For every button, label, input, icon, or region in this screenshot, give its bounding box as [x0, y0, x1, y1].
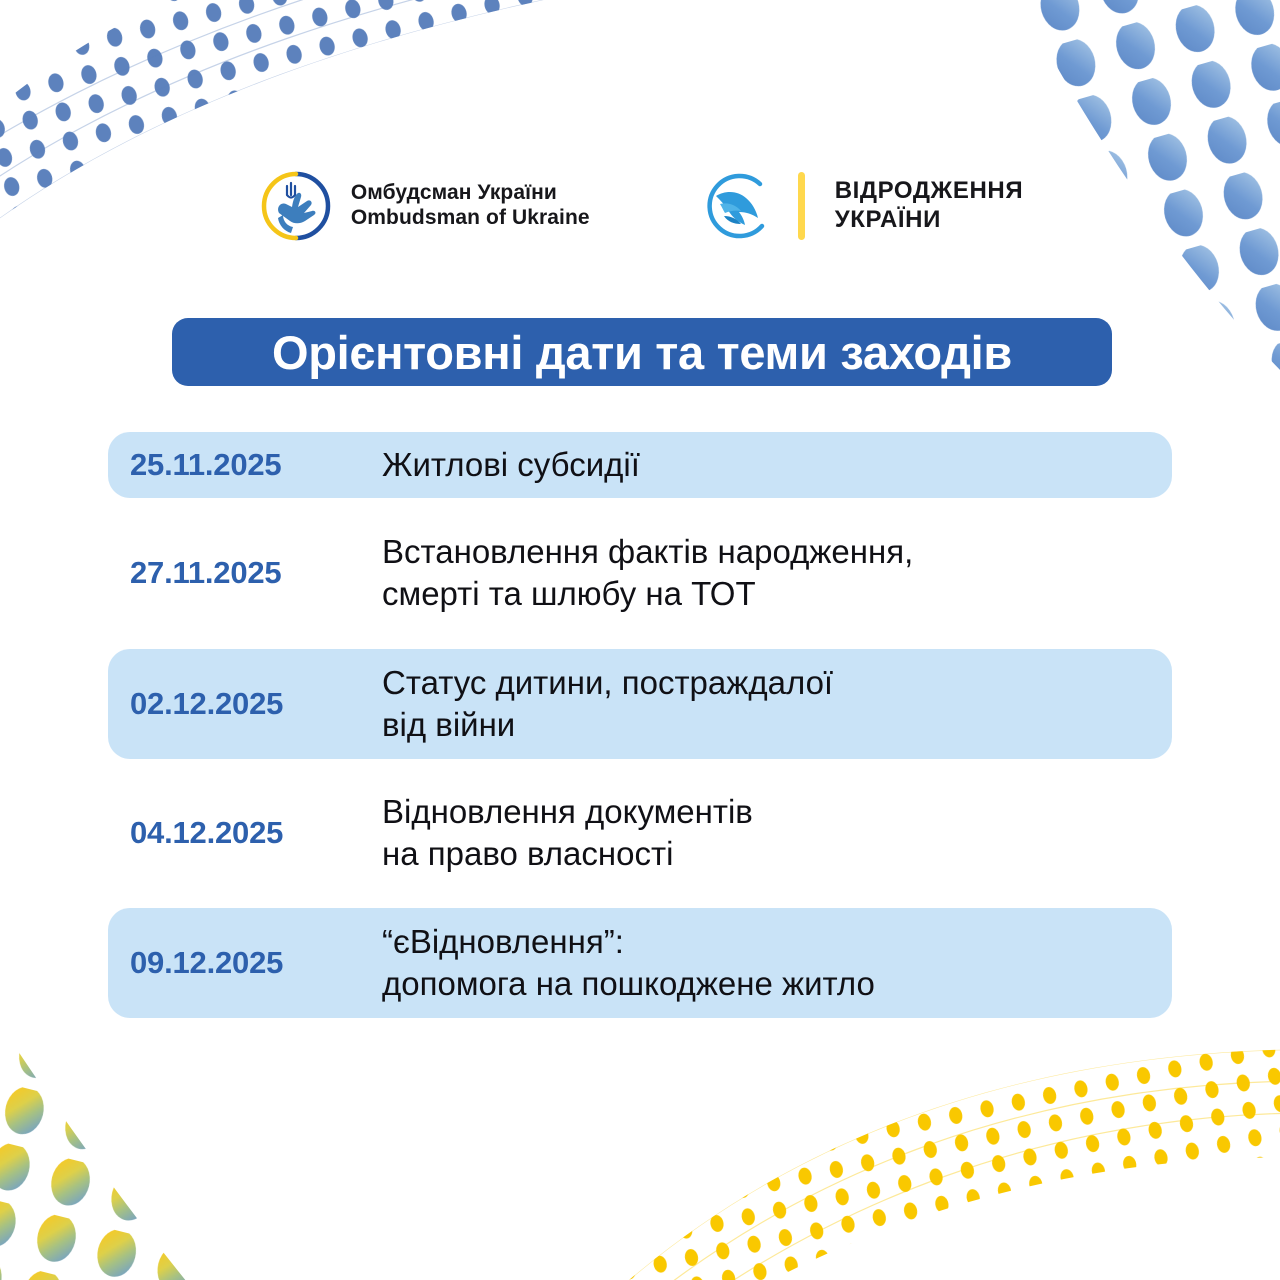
- schedule-row[interactable]: 25.11.2025 Житлові субсидії: [108, 432, 1172, 498]
- header-logos: Омбудсман України Ombudsman of Ukraine В…: [0, 163, 1280, 249]
- schedule-row-topic: “єВідновлення”: допомога на пошкоджене ж…: [382, 921, 1172, 1005]
- schedule-row-topic: Житлові субсидії: [382, 444, 1172, 486]
- poster-canvas: Омбудсман України Ombudsman of Ukraine В…: [0, 0, 1280, 1280]
- blue-dot-wave-top-left-icon: [0, 0, 960, 300]
- logo-revival-line-2: УКРАЇНИ: [835, 207, 1023, 234]
- schedule-row-date: 25.11.2025: [130, 447, 382, 483]
- schedule-row[interactable]: 27.11.2025 Встановлення фактів народженн…: [108, 519, 1172, 627]
- schedule-row-date: 04.12.2025: [130, 815, 382, 851]
- schedule-row[interactable]: 04.12.2025 Відновлення документів на пра…: [108, 779, 1172, 887]
- logo-ombudsman-line-uk: Омбудсман України: [351, 181, 590, 206]
- schedule-row-date: 02.12.2025: [130, 686, 382, 722]
- revival-bird-icon: [700, 168, 776, 244]
- logo-revival-line-1: ВІДРОДЖЕННЯ: [835, 178, 1023, 205]
- schedule-row-date: 27.11.2025: [130, 555, 382, 591]
- schedule-row-date: 09.12.2025: [130, 945, 382, 981]
- page-title: Орієнтовні дати та теми заходів: [272, 329, 1012, 376]
- schedule-list: 25.11.2025 Житлові субсидії 27.11.2025 В…: [108, 425, 1172, 1018]
- schedule-row-topic: Статус дитини, постраждалої від війни: [382, 662, 1172, 746]
- schedule-row-topic: Відновлення документів на право власност…: [382, 791, 1172, 875]
- logo-ombudsman-line-en: Ombudsman of Ukraine: [351, 206, 590, 231]
- schedule-row-topic-line: Статус дитини, постраждалої: [382, 662, 1172, 704]
- schedule-row-topic-line: “єВідновлення”:: [382, 921, 1172, 963]
- schedule-row[interactable]: 02.12.2025 Статус дитини, постраждалої в…: [108, 649, 1172, 759]
- schedule-row-topic-line: допомога на пошкоджене житло: [382, 963, 1172, 1005]
- schedule-row-topic-line: Житлові субсидії: [382, 444, 1172, 486]
- schedule-row-topic: Встановлення фактів народження, смерті т…: [382, 531, 1172, 615]
- logo-ombudsman: Омбудсман України Ombudsman of Ukraine: [257, 167, 590, 245]
- schedule-row-topic-line: на право власності: [382, 833, 1172, 875]
- schedule-row-topic-line: від війни: [382, 704, 1172, 746]
- logo-revival-of-ukraine: ВІДРОДЖЕННЯ УКРАЇНИ: [700, 168, 1023, 244]
- page-title-banner: Орієнтовні дати та теми заходів: [172, 318, 1112, 386]
- dove-hand-trident-icon: [257, 167, 335, 245]
- schedule-row-topic-line: смерті та шлюбу на ТОТ: [382, 573, 1172, 615]
- schedule-row-topic-line: Відновлення документів: [382, 791, 1172, 833]
- schedule-row-topic-line: Встановлення фактів народження,: [382, 531, 1172, 573]
- schedule-row[interactable]: 09.12.2025 “єВідновлення”: допомога на п…: [108, 908, 1172, 1018]
- logo-divider: [798, 172, 805, 240]
- yellow-dot-wave-bottom-right-icon: [560, 990, 1280, 1280]
